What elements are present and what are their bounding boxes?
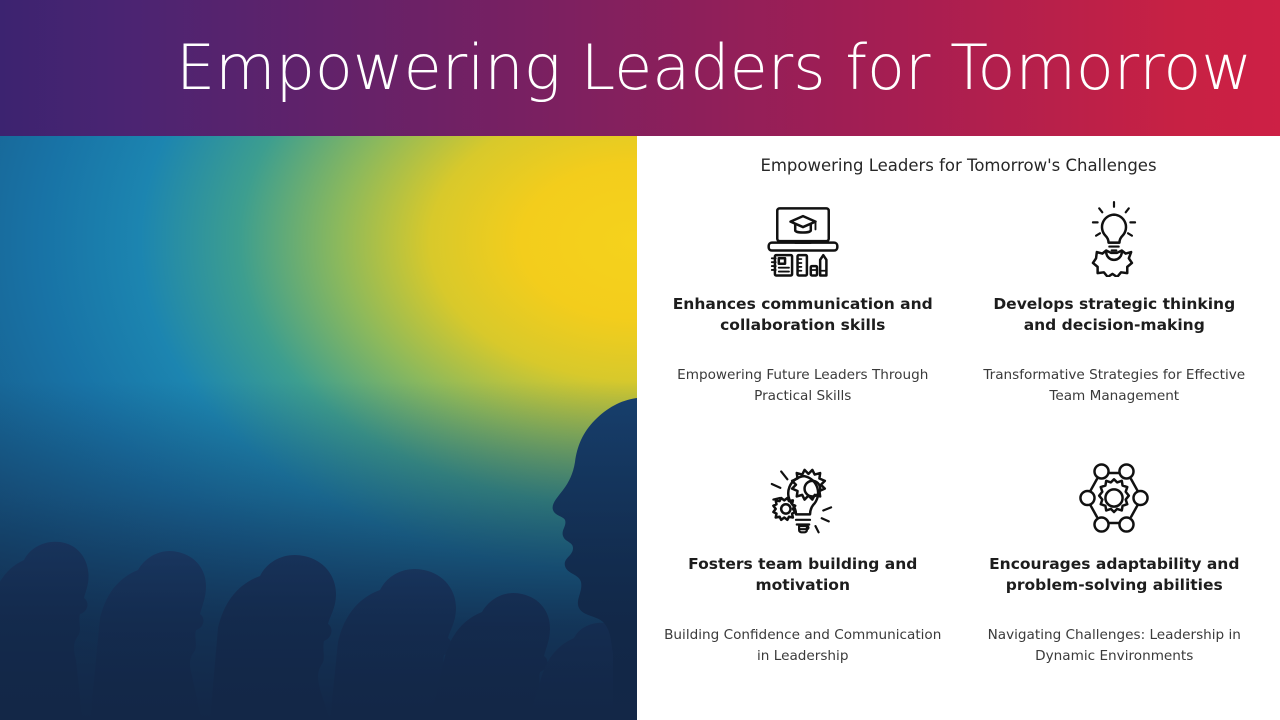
feature-card-title: Enhances communication and collaboration…: [668, 294, 938, 337]
feature-card-description: Building Confidence and Communication in…: [661, 625, 945, 667]
lightbulb-gears-idea-icon: [763, 458, 843, 538]
hero-image: [0, 136, 637, 720]
page-title: Empowering Leaders for Tomorrow: [176, 37, 1252, 99]
feature-card-description: Navigating Challenges: Leadership in Dyn…: [972, 625, 1256, 667]
feature-card-description: Empowering Future Leaders Through Practi…: [661, 365, 945, 407]
slide-root: Empowering Leaders for Tomorrow: [0, 0, 1280, 720]
feature-card[interactable]: Develops strategic thinking and decision…: [959, 194, 1271, 454]
laptop-graduation-cap-icon: [763, 198, 843, 278]
feature-card-title: Encourages adaptability and problem-solv…: [979, 554, 1249, 597]
content-panel: Empowering Leaders for Tomorrow's Challe…: [637, 136, 1280, 720]
panel-subtitle: Empowering Leaders for Tomorrow's Challe…: [637, 156, 1280, 175]
hexagon-network-gear-icon: [1074, 458, 1154, 538]
hero-foreground-shade: [0, 381, 637, 720]
feature-card[interactable]: Enhances communication and collaboration…: [647, 194, 959, 454]
lightbulb-gear-icon: [1074, 198, 1154, 278]
slide-header: Empowering Leaders for Tomorrow: [0, 0, 1280, 136]
feature-card-grid: Enhances communication and collaboration…: [647, 194, 1270, 714]
feature-card-title: Develops strategic thinking and decision…: [979, 294, 1249, 337]
feature-card[interactable]: Fosters team building and motivation Bui…: [647, 454, 959, 714]
feature-card-description: Transformative Strategies for Effective …: [972, 365, 1256, 407]
feature-card-title: Fosters team building and motivation: [668, 554, 938, 597]
feature-card[interactable]: Encourages adaptability and problem-solv…: [959, 454, 1271, 714]
